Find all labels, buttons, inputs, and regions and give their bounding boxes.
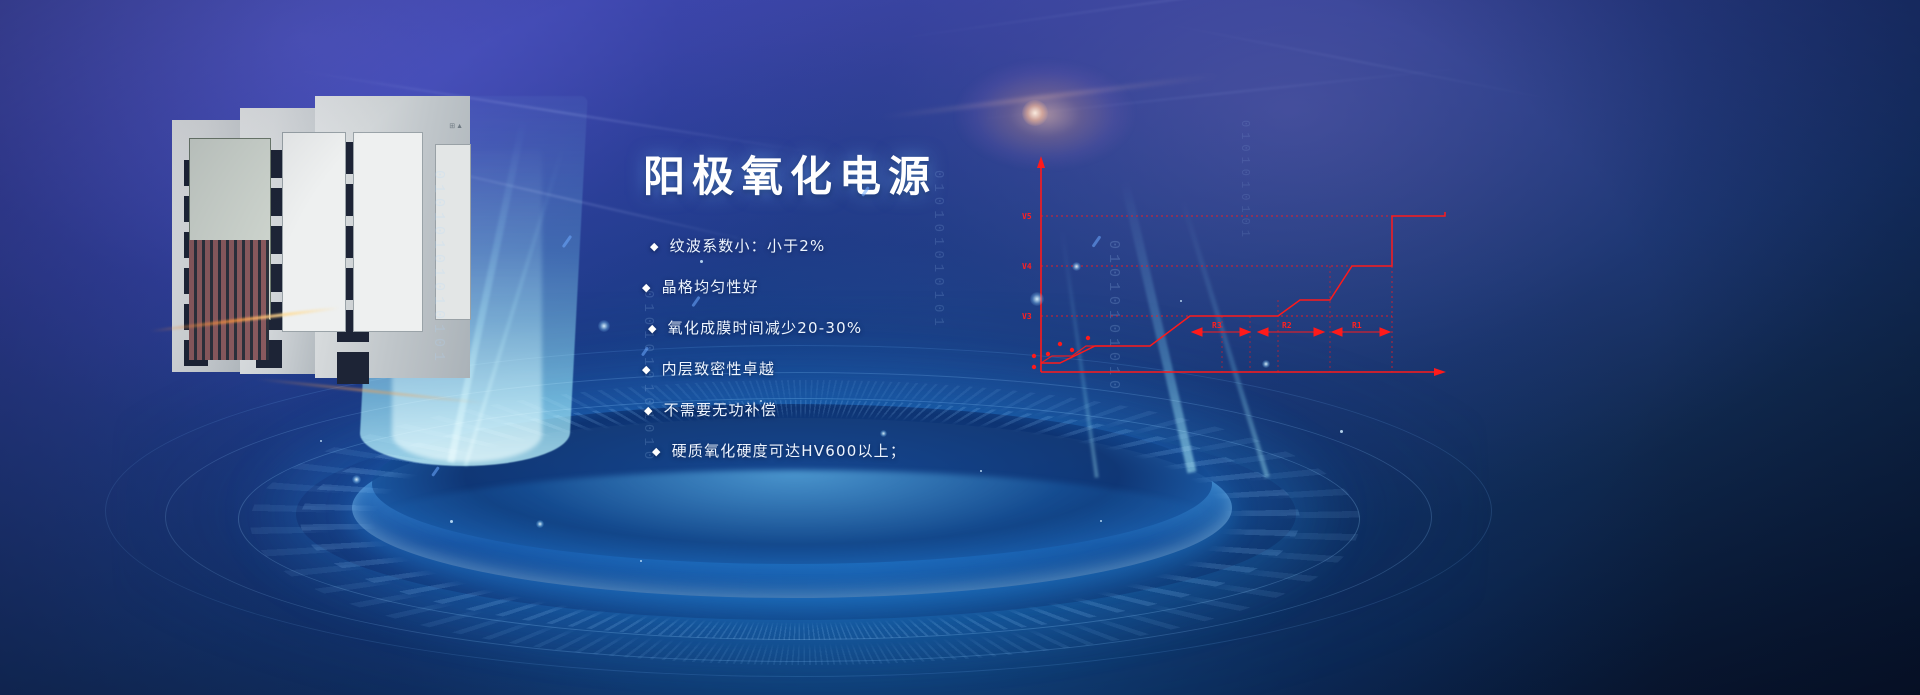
list-item-label: 内层致密性卓越: [662, 358, 775, 379]
platform-disc-underglow: [360, 470, 1230, 590]
chart-ytick-v4: V4: [1022, 262, 1032, 271]
chart-series-line: [1041, 212, 1445, 363]
particle: [640, 560, 642, 562]
list-item: ◆ 不需要无功补偿: [640, 399, 1080, 440]
cabinet-vent: [337, 352, 369, 384]
cabinet-control-panel-right[interactable]: [170, 150, 324, 186]
page-title: 阳极氧化电源: [643, 143, 937, 204]
particle: [760, 400, 762, 402]
list-item-label: 晶格均匀性好: [662, 276, 759, 297]
brand-mark: ⊞▲: [449, 122, 464, 130]
cabinet-nameplate: [282, 132, 346, 332]
cabinet-keypad[interactable]: [189, 240, 270, 360]
chart-y-axis-arrow: [1037, 156, 1045, 168]
list-item-label: 不需要无功补偿: [664, 399, 777, 420]
light-streak-icon: [880, 0, 1514, 42]
particle: [1100, 520, 1102, 522]
list-item-label: 纹波系数小：小于2%: [670, 235, 826, 256]
chart-ytick-v5: V5: [1022, 212, 1032, 221]
diamond-bullet-icon: ◆: [642, 364, 652, 375]
list-item-label: 硬质氧化硬度可达HV600以上；: [672, 440, 906, 461]
particle-glow: [352, 475, 361, 484]
diamond-bullet-icon: ◆: [648, 323, 658, 334]
cabinet-nameplate: [353, 132, 423, 332]
chart-xlabel-r1: R1: [1352, 321, 1362, 330]
particle: [320, 440, 322, 442]
particle-glow: [598, 320, 610, 332]
particle: [1340, 430, 1343, 433]
particle-glow: [1030, 292, 1044, 306]
promo-banner: ⊞▲ 01010101010101 0101010101010 01010101…: [0, 0, 1920, 695]
chart-ytick-v3: V3: [1022, 312, 1032, 321]
particle: [450, 520, 453, 523]
particle-glow: [536, 520, 544, 528]
diamond-bullet-icon: ◆: [650, 241, 660, 252]
particle: [980, 470, 982, 472]
binary-strip: 01010101010101: [430, 170, 447, 366]
particle: [700, 260, 703, 263]
diamond-bullet-icon: ◆: [644, 405, 654, 416]
cabinet-control-panel-left[interactable]: [170, 84, 236, 116]
particle-glow: [1262, 360, 1270, 368]
voltage-step-chart: V5 V4 V3 R3 R2 R1: [1000, 150, 1500, 400]
chart-svg: V5 V4 V3 R3 R2 R1: [1000, 150, 1500, 400]
chart-xlabel-r2: R2: [1282, 321, 1292, 330]
chart-xlabel-r3: R3: [1212, 321, 1222, 330]
diamond-bullet-icon: ◆: [652, 446, 662, 457]
chart-series-detail: [1041, 346, 1110, 363]
lens-flare-core-icon: [1022, 100, 1048, 126]
chart-x-axis-arrow: [1434, 368, 1446, 376]
list-item-label: 氧化成膜时间减少20-30%: [668, 317, 863, 338]
list-item: ◆ 硬质氧化硬度可达HV600以上；: [640, 440, 1080, 481]
particle: [1180, 300, 1182, 302]
particle-glow: [1072, 262, 1081, 271]
light-streak-icon: [1150, 20, 1563, 102]
diamond-bullet-icon: ◆: [642, 282, 652, 293]
chart-tick-labels: V5 V4 V3 R3 R2 R1: [1022, 212, 1362, 330]
particle-glow: [880, 430, 887, 437]
